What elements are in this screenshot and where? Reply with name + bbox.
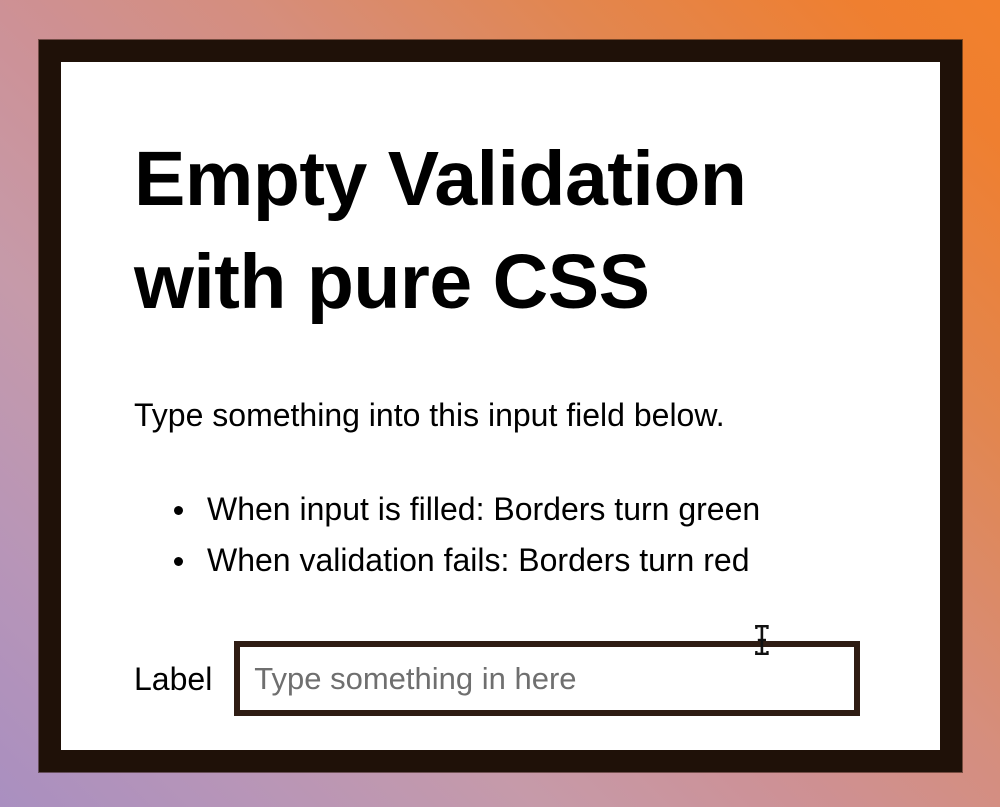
list-item: When input is filled: Borders turn green [134, 484, 940, 535]
list-item-label: When input is filled: Borders turn green [207, 491, 760, 527]
input-label: Label [134, 660, 212, 698]
validation-form-row: Label [134, 586, 940, 716]
framed-card: Empty Validation with pure CSS Type some… [39, 40, 962, 772]
behavior-list: When input is filled: Borders turn green… [134, 434, 940, 586]
validation-text-input[interactable] [234, 641, 860, 716]
input-wrapper [234, 641, 860, 716]
bullet-icon [174, 557, 183, 566]
intro-paragraph: Type something into this input field bel… [134, 334, 940, 434]
bullet-icon [174, 506, 183, 515]
page-root: Empty Validation with pure CSS Type some… [0, 0, 1000, 807]
card-content: Empty Validation with pure CSS Type some… [61, 62, 940, 750]
page-title: Empty Validation with pure CSS [134, 128, 774, 334]
list-item-label: When validation fails: Borders turn red [207, 542, 749, 578]
list-item: When validation fails: Borders turn red [134, 535, 940, 586]
